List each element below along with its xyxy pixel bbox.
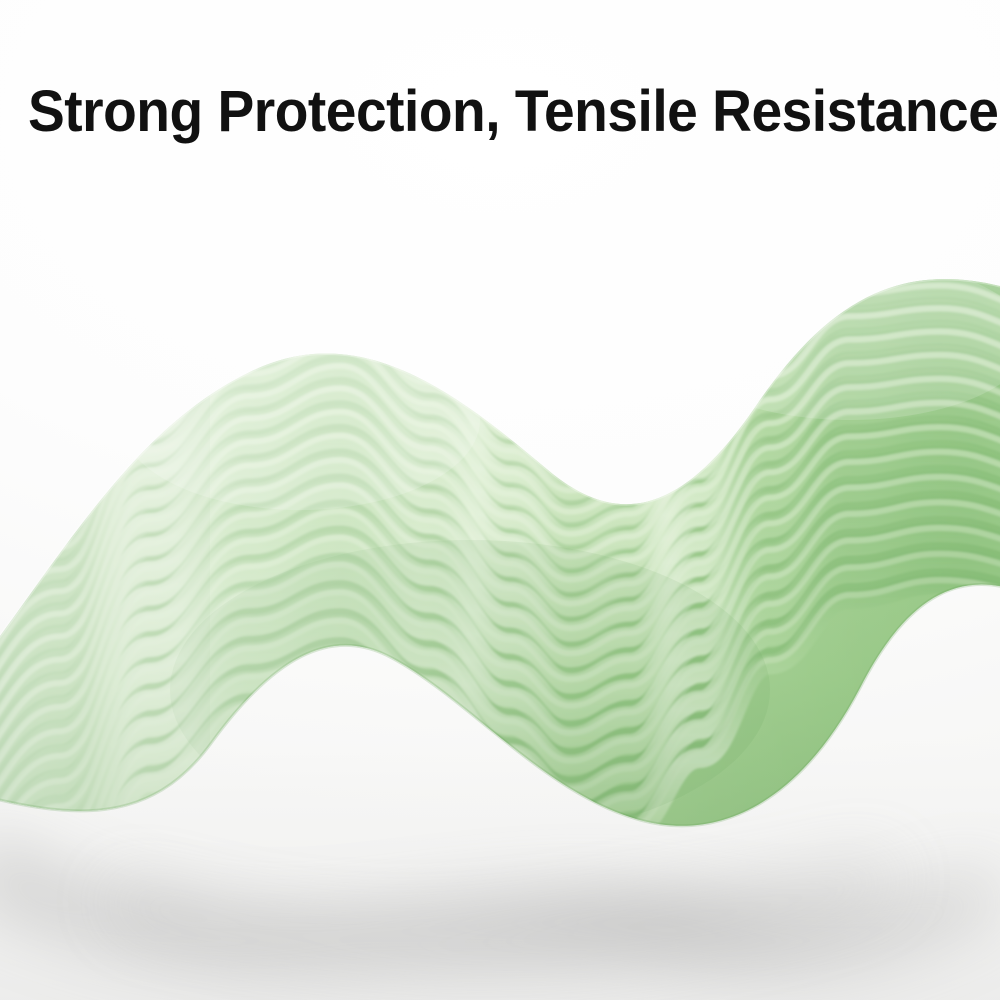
wave-drop-shadow	[0, 830, 1000, 970]
wave-focus-falloff	[0, 240, 1000, 860]
corrugated-wave-svg	[0, 0, 1000, 1000]
page-title: Strong Protection, Tensile Resistance.	[28, 83, 936, 141]
banner-canvas: Strong Protection, Tensile Resistance.	[0, 0, 1000, 1000]
wave-artwork	[0, 0, 1000, 1000]
